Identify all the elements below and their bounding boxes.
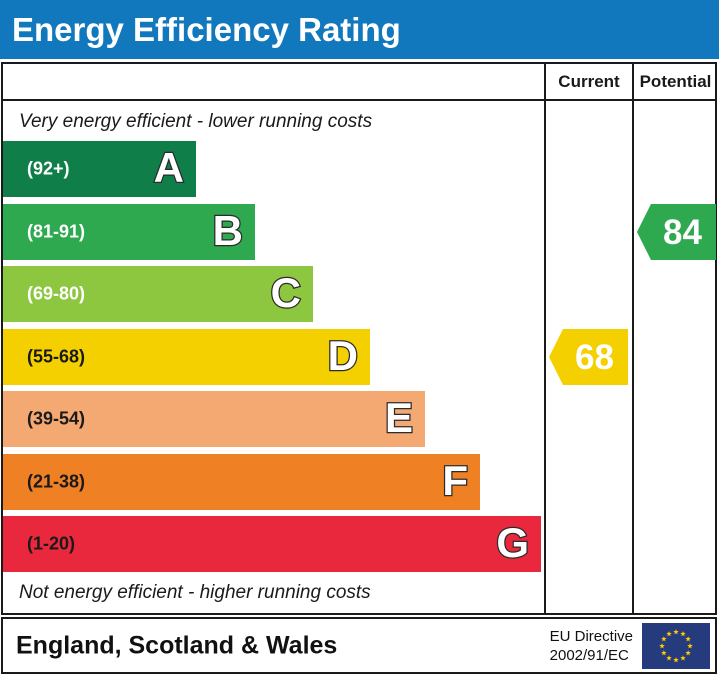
band-letter-b: B <box>213 210 243 252</box>
column-header-current: Current <box>546 64 632 99</box>
band-row-f: (21-38) F <box>3 454 480 510</box>
current-rating-arrow: 68 <box>549 329 628 385</box>
band-row-a: (92+) A <box>3 141 196 197</box>
eu-directive-line2: 2002/91/EC <box>550 646 633 665</box>
column-divider-current <box>544 64 546 613</box>
potential-rating-value: 84 <box>651 215 702 250</box>
band-range-e: (39-54) <box>27 409 85 430</box>
energy-efficiency-rating-chart: Energy Efficiency Rating Current Potenti… <box>0 0 719 675</box>
page-title: Energy Efficiency Rating <box>12 11 401 49</box>
potential-rating-arrow: 84 <box>637 204 716 260</box>
eu-flag-icon <box>642 623 710 669</box>
column-divider-potential <box>632 64 634 613</box>
band-letter-a: A <box>154 147 184 189</box>
band-chart-area: Very energy efficient - lower running co… <box>3 101 544 613</box>
band-range-a: (92+) <box>27 159 70 180</box>
region-label: England, Scotland & Wales <box>16 631 337 660</box>
band-row-b: (81-91) B <box>3 204 255 260</box>
column-header-potential: Potential <box>634 64 717 99</box>
eu-directive-line1: EU Directive <box>550 627 633 646</box>
caption-not-efficient: Not energy efficient - higher running co… <box>19 582 371 604</box>
band-row-g: (1-20) G <box>3 516 541 572</box>
chart-title-bar: Energy Efficiency Rating <box>0 0 719 59</box>
band-letter-c: C <box>271 272 301 314</box>
rating-table: Current Potential Very energy efficient … <box>1 62 717 615</box>
band-row-d: (55-68) D <box>3 329 370 385</box>
chart-footer: England, Scotland & Wales EU Directive 2… <box>1 617 717 674</box>
band-letter-f: F <box>442 460 468 502</box>
eu-directive-label: EU Directive 2002/91/EC <box>550 627 633 665</box>
band-row-c: (69-80) C <box>3 266 313 322</box>
band-letter-d: D <box>328 335 358 377</box>
band-range-g: (1-20) <box>27 534 75 555</box>
band-range-d: (55-68) <box>27 347 85 368</box>
band-range-b: (81-91) <box>27 222 85 243</box>
band-row-e: (39-54) E <box>3 391 425 447</box>
band-letter-g: G <box>496 522 529 564</box>
caption-efficient: Very energy efficient - lower running co… <box>19 111 372 133</box>
band-letter-e: E <box>385 397 413 439</box>
band-range-f: (21-38) <box>27 472 85 493</box>
band-range-c: (69-80) <box>27 284 85 305</box>
current-rating-value: 68 <box>563 340 614 375</box>
